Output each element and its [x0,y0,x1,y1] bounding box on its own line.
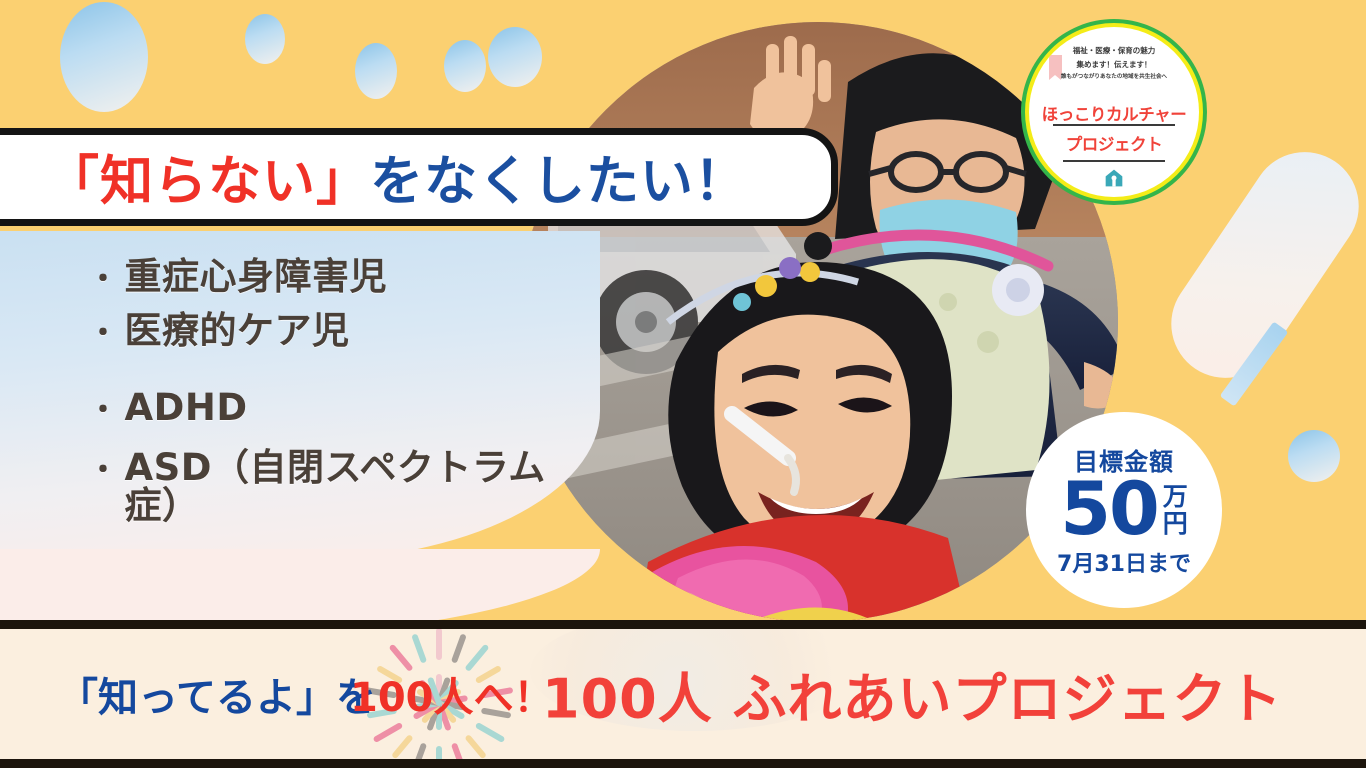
funding-goal-badge: 目標金額 50 万 円 7月31日まで [1026,412,1222,608]
decor-bubble-right [1288,430,1340,482]
decor-bubble-large [60,2,148,112]
list-item-label: ADHD [125,389,248,427]
goal-amount-row: 50 万 円 [1060,475,1188,544]
banner-burst-text: 100人へ！ [350,665,554,723]
logo-tagline-3: 誰もがつながりあなたの地域を共生社会へ [1029,75,1199,81]
list-item-label: ASD（自閉スペクトラム症） [125,449,569,524]
headline-red-text: 「知らない」 [46,151,370,212]
brand-logo-badge: 福祉・医療・保育の魅力 集めます！伝えます！ 誰もがつながりあなたの地域を共生社… [1029,27,1199,197]
list-item: ・ ASD（自閉スペクトラム症） [88,449,568,524]
house-icon [1104,168,1124,188]
banner-quote-text: 「知ってるよ」を [58,665,376,723]
headline-blue-text: をなくしたい！ [370,151,748,212]
logo-taglines: 福祉・医療・保育の魅力 集めます！伝えます！ 誰もがつながりあなたの地域を共生社… [1029,47,1199,81]
list-item: ・ ADHD [88,389,568,427]
logo-name-line-2: プロジェクト [1029,131,1199,155]
logo-tagline-2: 集めます！伝えます！ [1029,61,1199,69]
decor-bubble-small-c [444,40,486,92]
bullet-dot-icon: ・ [88,265,119,295]
page-title: 「知らない」をなくしたい！ [46,139,748,215]
goal-unit-man: 万 [1163,483,1188,510]
list-item: ・ 重症心身障害児 [88,258,568,296]
list-item-label: 重症心身障害児 [125,258,388,296]
list-item: ・ 医療的ケア児 [88,312,568,350]
headline-ribbon: 「知らない」をなくしたい！ [0,128,838,226]
bottom-banner: 「知ってるよ」を 100人へ！ 100人 ふれあいプロジェクト [0,620,1366,768]
bullet-dot-icon: ・ [88,456,119,486]
logo-divider-top [1053,124,1175,126]
bullet-dot-icon: ・ [88,319,119,349]
goal-unit-yen: 円 [1163,510,1188,537]
goal-deadline: 7月31日まで [1057,546,1191,578]
logo-name-line-1: ほっこりカルチャー [1029,101,1199,125]
banner-project-title: 100人 ふれあいプロジェクト [542,655,1283,734]
logo-tagline-1: 福祉・医療・保育の魅力 [1029,47,1199,55]
logo-divider-bottom [1063,160,1165,162]
list-item-label: 医療的ケア児 [125,312,350,350]
poster-canvas: ・ 重症心身障害児 ・ 医療的ケア児 ・ ADHD ・ ASD（自閉スペクトラム… [0,0,1366,768]
decor-bubble-small-a [245,14,285,64]
conditions-list: ・ 重症心身障害児 ・ 医療的ケア児 ・ ADHD ・ ASD（自閉スペクトラム… [88,258,568,525]
bullet-dot-icon: ・ [88,396,119,426]
goal-amount-number: 50 [1060,475,1158,544]
goal-amount-unit: 万 円 [1163,483,1188,537]
decor-bubble-small-b [355,43,397,99]
